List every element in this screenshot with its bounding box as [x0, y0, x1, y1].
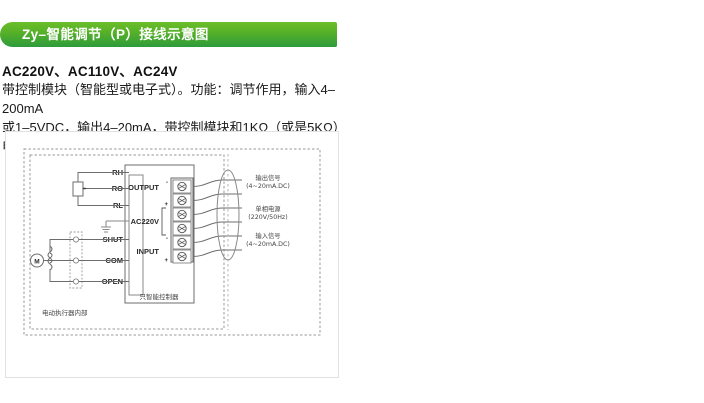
terminal-group-label-input: INPUT — [137, 247, 160, 256]
enclosure-caption: 电动执行器内部 — [42, 308, 88, 317]
description-line-1: 带控制模块（智能型或电子式）。功能：调节作用，输入4–200mA — [2, 80, 354, 118]
controller-left-strip — [129, 175, 143, 295]
motor-leads-left — [42, 240, 73, 282]
terminal-sign-output-plus: + — [164, 202, 168, 208]
potentiometer-body — [73, 182, 83, 196]
voltage-spec-heading: AC220V、AC110V、AC24V — [2, 60, 178, 80]
terminal-sign-input-plus: + — [164, 258, 168, 264]
page-title-ribbon: Zy–智能调节（P）接线示意图 — [0, 22, 337, 47]
right-signal-labels: 输出信号 (4~20mA.DC) 单相电源 (220V/50Hz) 输入信号 (… — [246, 173, 290, 248]
right-label-output-sub: (4~20mA.DC) — [246, 183, 290, 190]
terminal-group-label-ac220v: AC220V — [131, 217, 159, 226]
controller-caption: 只智能控制器 — [140, 292, 180, 301]
motor-symbol-label: M — [34, 258, 39, 265]
terminal-sign-output-minus: - — [166, 180, 168, 186]
terminal-sign-input-minus: - — [166, 236, 168, 242]
right-label-input-sub: (4~20mA.DC) — [246, 241, 290, 248]
motor-leads-right — [79, 240, 124, 282]
right-label-power-sub: (220V/50Hz) — [248, 214, 287, 221]
right-label-power-title: 单相电源 — [255, 204, 281, 213]
right-label-output-title: 输出信号 — [255, 173, 280, 182]
right-label-input-title: 输入信号 — [255, 231, 280, 240]
page-title: Zy–智能调节（P）接线示意图 — [0, 28, 209, 42]
diagram-card: - + - + OUTPUT AC220V INPUT 只智能控制器 RH RO… — [5, 131, 339, 378]
wiring-diagram: - + - + OUTPUT AC220V INPUT 只智能控制器 RH RO… — [6, 132, 338, 377]
terminal-group-label-output: OUTPUT — [128, 183, 159, 192]
